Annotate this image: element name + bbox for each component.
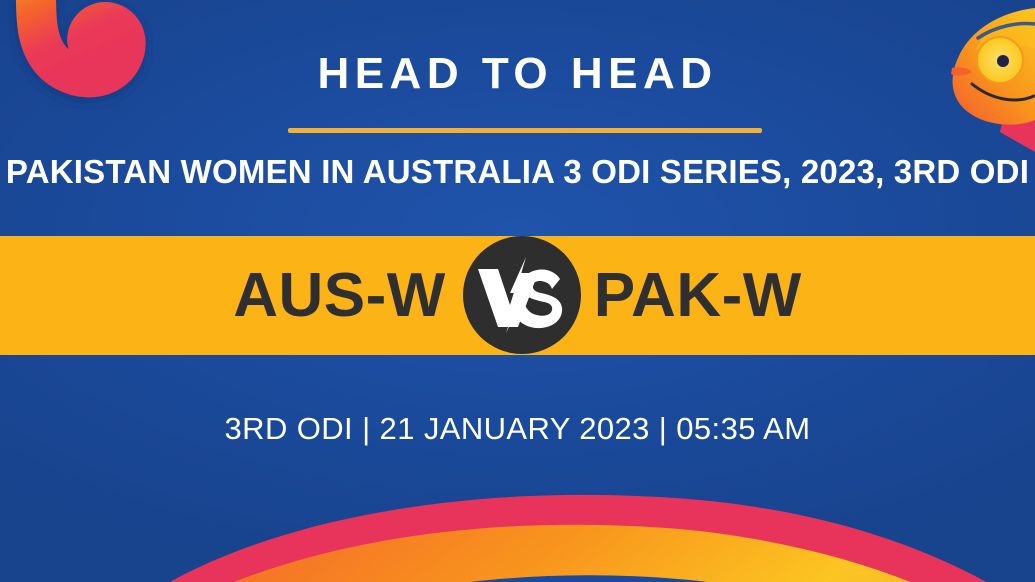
title-divider	[288, 128, 762, 133]
team-right-name: PAK-W	[594, 265, 802, 327]
head-to-head-poster: HEAD TO HEAD PAKISTAN WOMEN IN AUSTRALIA…	[0, 0, 1035, 582]
match-details-container: 3RD ODI | 21 JANUARY 2023 | 05:35 AM	[0, 413, 1035, 444]
match-details: 3RD ODI | 21 JANUARY 2023 | 05:35 AM	[225, 413, 811, 444]
vs-icon	[474, 257, 570, 333]
series-subtitle-container: PAKISTAN WOMEN IN AUSTRALIA 3 ODI SERIES…	[6, 152, 1029, 192]
series-subtitle: PAKISTAN WOMEN IN AUSTRALIA 3 ODI SERIES…	[6, 153, 1029, 190]
page-title: HEAD TO HEAD	[317, 52, 717, 96]
team-left-name: AUS-W	[233, 265, 446, 327]
versus-badge	[463, 236, 581, 354]
poster-title-container: HEAD TO HEAD	[0, 52, 1035, 96]
